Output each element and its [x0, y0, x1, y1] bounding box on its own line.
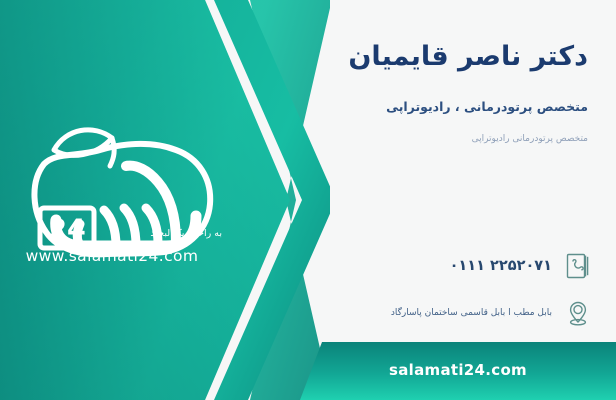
doctor-specialty-secondary: متخصص پرتودرمانی رادیوتراپی — [308, 133, 588, 146]
logo-website: www.salamati24.com — [0, 247, 224, 265]
logo-tagline: به راحتی یک لبخند — [118, 228, 222, 239]
card-content: دکتر ناصر قایمیان متخصص پرتودرمانی ، راد… — [286, 0, 616, 400]
doctor-name: دکتر ناصر قایمیان — [308, 40, 588, 74]
doctor-specialty: متخصص پرتودرمانی ، رادیوتراپی — [308, 98, 588, 116]
address-row: بابل مطب ا بابل قاسمی ساختمان پاسارگاد — [304, 297, 594, 329]
phone-row: ۲۲۵۲۰۷۱ ۰۱۱۱ — [304, 250, 594, 282]
banner-website: salamati24.com — [300, 342, 616, 400]
address-text: بابل مطب ا بابل قاسمی ساختمان پاسارگاد — [391, 307, 552, 320]
chevron-shapes — [0, 0, 330, 400]
business-card: 24 به راحتی یک لبخند www.salamati24.com … — [0, 0, 616, 400]
phone-number: ۲۲۵۲۰۷۱ ۰۱۱۱ — [450, 258, 552, 274]
teal-panel: 24 به راحتی یک لبخند www.salamati24.com — [0, 0, 330, 400]
map-pin-icon — [562, 297, 594, 329]
phonebook-icon — [562, 250, 594, 282]
